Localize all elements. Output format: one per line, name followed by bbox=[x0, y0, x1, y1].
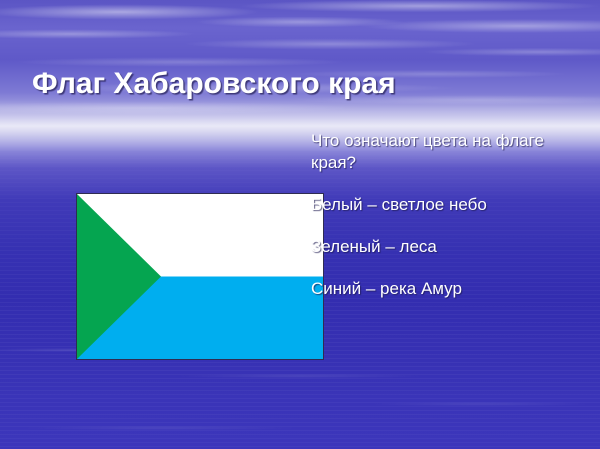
slide-title: Флаг Хабаровского края bbox=[32, 66, 572, 102]
presentation-slide: Флаг Хабаровского края Флаг Хабаровского… bbox=[0, 0, 600, 449]
text-line-question: Что означают цвета на флаге края? bbox=[311, 130, 586, 174]
flag-image-khabarovsk-krai: Флаг Хабаровского края: зелёный треуголь… bbox=[76, 193, 324, 360]
text-line-green-meaning: Зеленый – леса bbox=[311, 236, 586, 258]
flag-graphic bbox=[77, 194, 323, 359]
text-line-white-meaning: Белый – светлое небо bbox=[311, 194, 586, 216]
text-line-blue-meaning: Синий – река Амур bbox=[311, 278, 586, 300]
content-text-block: Что означают цвета на флаге края? Белый … bbox=[311, 130, 586, 300]
